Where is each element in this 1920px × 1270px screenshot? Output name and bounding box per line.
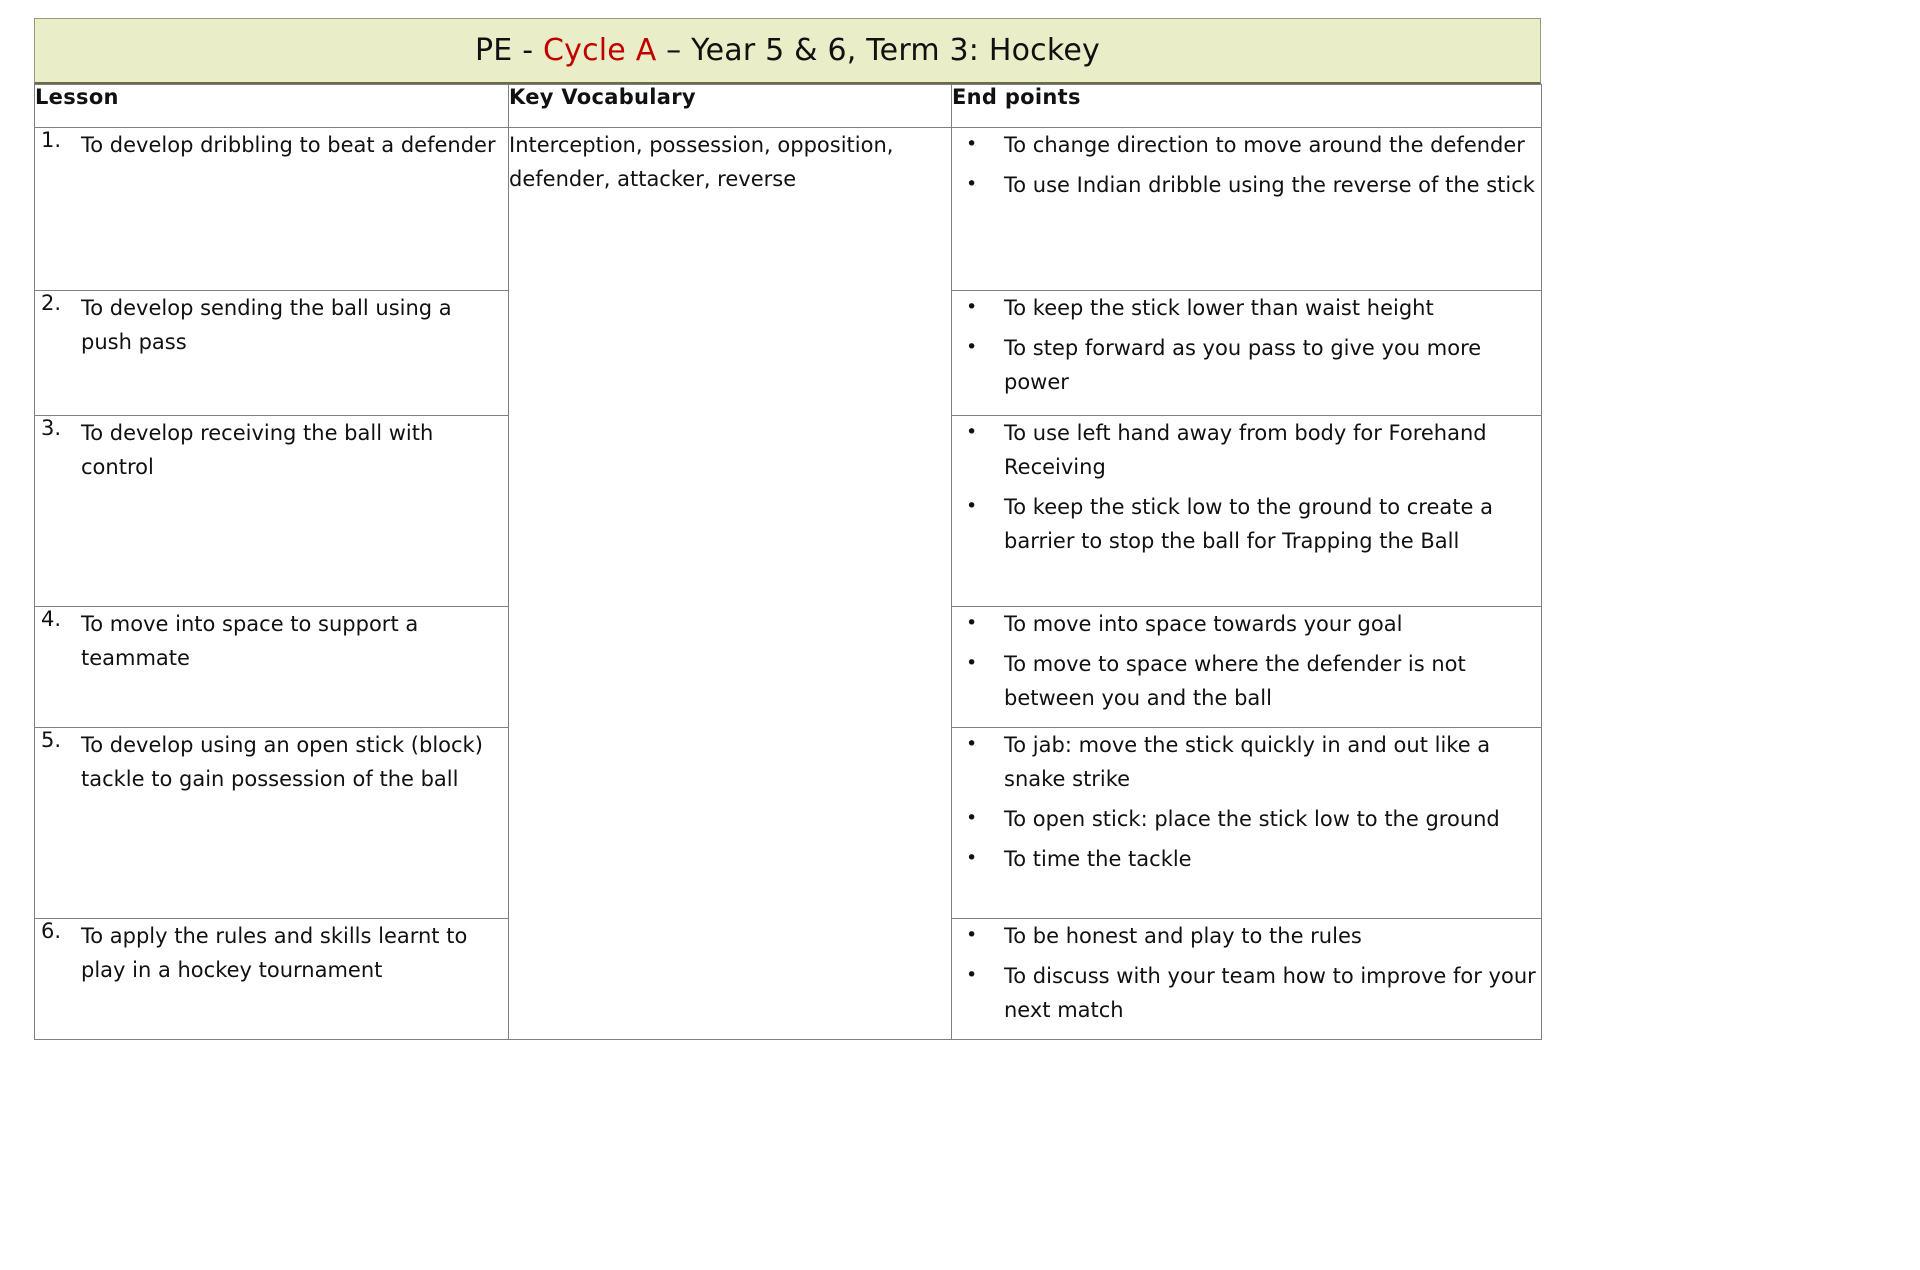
list-item: • To time the tackle — [952, 842, 1541, 876]
lesson-cell: 6. To apply the rules and skills learnt … — [35, 919, 509, 1040]
table-row: 1. To develop dribbling to beat a defend… — [35, 128, 1542, 291]
end-points-cell: • To use left hand away from body for Fo… — [952, 416, 1542, 607]
lesson-text: To apply the rules and skills learnt to … — [81, 919, 508, 987]
list-item: • To open stick: place the stick low to … — [952, 802, 1541, 836]
bullet-icon: • — [952, 291, 1004, 324]
end-point-text: To move to space where the defender is n… — [1004, 647, 1541, 715]
end-points-list: • To be honest and play to the rules • T… — [952, 919, 1541, 1027]
lesson-text: To develop dribbling to beat a defender — [81, 128, 508, 162]
column-header-key-vocabulary: Key Vocabulary — [509, 85, 952, 128]
bullet-icon: • — [952, 919, 1004, 952]
end-points-list: • To use left hand away from body for Fo… — [952, 416, 1541, 558]
document-page: PE - Cycle A – Year 5 & 6, Term 3: Hocke… — [0, 0, 1920, 1270]
title-prefix: PE - — [475, 33, 543, 68]
list-item: • To change direction to move around the… — [952, 128, 1541, 162]
lesson-cell: 4. To move into space to support a teamm… — [35, 607, 509, 728]
list-item: • To use left hand away from body for Fo… — [952, 416, 1541, 484]
lesson-cell: 5. To develop using an open stick (block… — [35, 728, 509, 919]
lesson-cell: 3. To develop receiving the ball with co… — [35, 416, 509, 607]
bullet-icon: • — [952, 168, 1004, 201]
lesson-number: 5. — [35, 728, 81, 752]
list-item: • To jab: move the stick quickly in and … — [952, 728, 1541, 796]
end-point-text: To open stick: place the stick low to th… — [1004, 802, 1541, 836]
end-points-cell: • To jab: move the stick quickly in and … — [952, 728, 1542, 919]
lesson-text: To develop using an open stick (block) t… — [81, 728, 508, 796]
end-point-text: To be honest and play to the rules — [1004, 919, 1541, 953]
end-point-text: To keep the stick lower than waist heigh… — [1004, 291, 1541, 325]
bullet-icon: • — [952, 128, 1004, 161]
bullet-icon: • — [952, 331, 1004, 364]
list-item: • To keep the stick lower than waist hei… — [952, 291, 1541, 325]
list-item: • To step forward as you pass to give yo… — [952, 331, 1541, 399]
list-item: • To be honest and play to the rules — [952, 919, 1541, 953]
end-points-cell: • To be honest and play to the rules • T… — [952, 919, 1542, 1040]
end-points-list: • To jab: move the stick quickly in and … — [952, 728, 1541, 876]
end-point-text: To keep the stick low to the ground to c… — [1004, 490, 1541, 558]
lesson-number: 4. — [35, 607, 81, 631]
column-header-end-points: End points — [952, 85, 1542, 128]
bullet-icon: • — [952, 490, 1004, 523]
lesson-text: To develop receiving the ball with contr… — [81, 416, 508, 484]
end-point-text: To use left hand away from body for Fore… — [1004, 416, 1541, 484]
end-point-text: To move into space towards your goal — [1004, 607, 1541, 641]
lesson-cell: 1. To develop dribbling to beat a defend… — [35, 128, 509, 291]
page-title: PE - Cycle A – Year 5 & 6, Term 3: Hocke… — [475, 36, 1100, 66]
lesson-number: 2. — [35, 291, 81, 315]
end-points-list: • To change direction to move around the… — [952, 128, 1541, 202]
title-accent-cycle: Cycle A — [543, 33, 656, 68]
end-points-cell: • To change direction to move around the… — [952, 128, 1542, 291]
lesson-cell: 2. To develop sending the ball using a p… — [35, 291, 509, 416]
end-point-text: To discuss with your team how to improve… — [1004, 959, 1541, 1027]
bullet-icon: • — [952, 647, 1004, 680]
column-header-lesson: Lesson — [35, 85, 509, 128]
list-item: • To move into space towards your goal — [952, 607, 1541, 641]
end-point-text: To jab: move the stick quickly in and ou… — [1004, 728, 1541, 796]
bullet-icon: • — [952, 607, 1004, 640]
lesson-number: 3. — [35, 416, 81, 440]
end-points-cell: • To keep the stick lower than waist hei… — [952, 291, 1542, 416]
list-item: • To move to space where the defender is… — [952, 647, 1541, 715]
end-point-text: To use Indian dribble using the reverse … — [1004, 168, 1541, 202]
lesson-text: To develop sending the ball using a push… — [81, 291, 508, 359]
list-item: • To discuss with your team how to impro… — [952, 959, 1541, 1027]
list-item: • To keep the stick low to the ground to… — [952, 490, 1541, 558]
lesson-number: 6. — [35, 919, 81, 943]
end-points-cell: • To move into space towards your goal •… — [952, 607, 1542, 728]
bullet-icon: • — [952, 802, 1004, 835]
bullet-icon: • — [952, 728, 1004, 761]
end-point-text: To time the tackle — [1004, 842, 1541, 876]
key-vocabulary-cell: Interception, possession, opposition, de… — [509, 128, 952, 1040]
end-points-list: • To keep the stick lower than waist hei… — [952, 291, 1541, 399]
end-point-text: To change direction to move around the d… — [1004, 128, 1541, 162]
lesson-text: To move into space to support a teammate — [81, 607, 508, 675]
list-item: • To use Indian dribble using the revers… — [952, 168, 1541, 202]
end-points-list: • To move into space towards your goal •… — [952, 607, 1541, 715]
bullet-icon: • — [952, 416, 1004, 449]
document-title-banner: PE - Cycle A – Year 5 & 6, Term 3: Hocke… — [34, 18, 1541, 84]
bullet-icon: • — [952, 842, 1004, 875]
title-suffix: – Year 5 & 6, Term 3: Hockey — [656, 33, 1100, 68]
bullet-icon: • — [952, 959, 1004, 992]
lesson-number: 1. — [35, 128, 81, 152]
table-header-row: Lesson Key Vocabulary End points — [35, 85, 1542, 128]
curriculum-plan-table: Lesson Key Vocabulary End points 1. To d… — [34, 84, 1542, 1040]
end-point-text: To step forward as you pass to give you … — [1004, 331, 1541, 399]
